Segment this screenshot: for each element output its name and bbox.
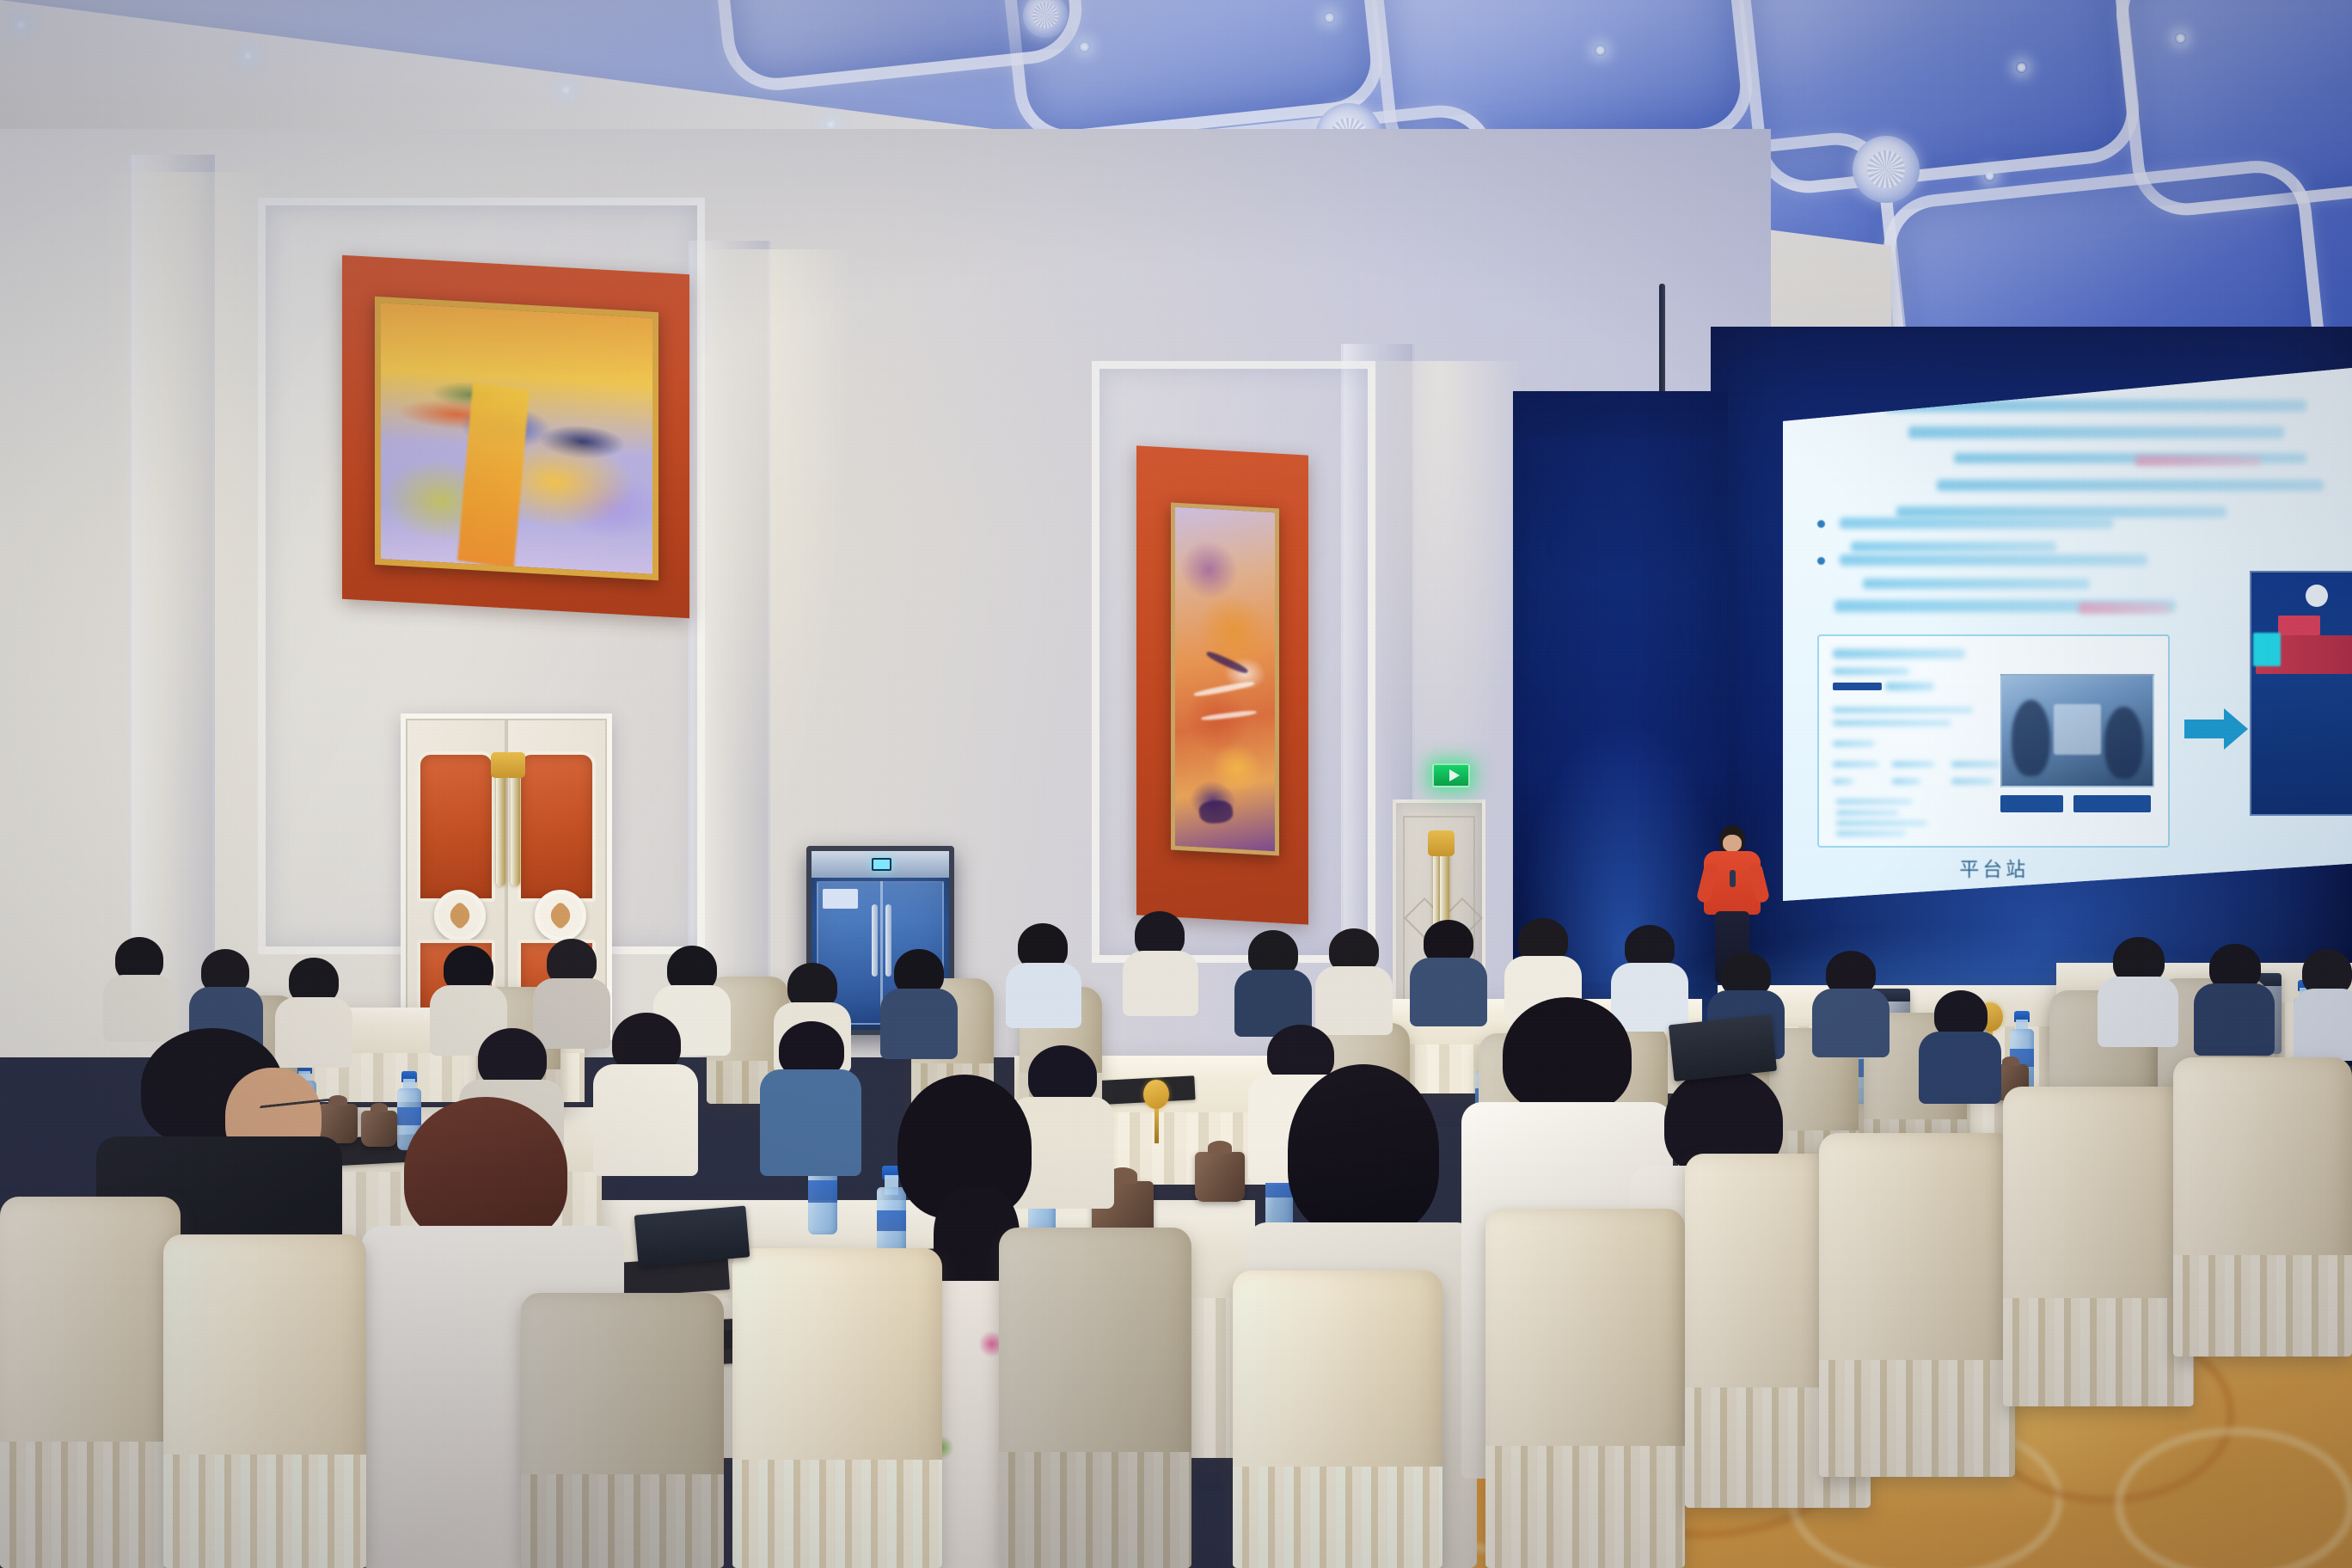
card-title [1833, 649, 1965, 658]
chair-pleat [1819, 1360, 2015, 1477]
attendee [2194, 944, 2276, 1056]
chair-pleat [1233, 1467, 1442, 1568]
chair-pleat [732, 1460, 942, 1568]
laptop[interactable] [634, 1205, 750, 1266]
attendee-torso [760, 1069, 861, 1176]
ceiling-downlight [1079, 41, 1090, 52]
card-body-line [1833, 720, 1951, 726]
door-handle[interactable] [496, 773, 505, 886]
card-list-item [1836, 821, 1927, 825]
attendee-torso [1812, 989, 1890, 1057]
door-panel [518, 751, 595, 902]
slide-caption: 平台站 [1959, 853, 2029, 882]
cornice-downlight [560, 84, 572, 95]
door-panel [417, 751, 494, 902]
card-meta [1885, 683, 1934, 690]
card-col-head [1892, 762, 1934, 767]
projection-screen: 平台站 [1783, 368, 2352, 901]
slide-headline-block [1908, 426, 2284, 438]
wall-pilaster [129, 155, 215, 1032]
slide-phone-mockup [2250, 571, 2352, 816]
banquet-chair[interactable] [0, 1197, 181, 1568]
attendee-torso [2098, 977, 2178, 1047]
slide-headline-block [2135, 456, 2261, 466]
door-medallion [434, 890, 486, 941]
phone-cyan-badge [2253, 633, 2281, 666]
fridge-handle[interactable] [872, 904, 878, 976]
banquet-chair[interactable] [521, 1293, 724, 1568]
banquet-chair[interactable] [163, 1234, 366, 1568]
ceiling-downlight [2175, 33, 2186, 44]
laptop[interactable] [1669, 1014, 1777, 1081]
card-body-line [1833, 741, 1875, 746]
chair-pleat [2003, 1298, 2194, 1406]
fridge-display [872, 858, 891, 871]
card-list-item [1836, 831, 1906, 836]
banquet-chair[interactable] [2173, 1057, 2352, 1357]
banquet-chair[interactable] [1819, 1133, 2015, 1477]
chair-pleat [163, 1455, 366, 1568]
attendee-torso [2294, 989, 2352, 1061]
table-number-stand [1143, 1080, 1169, 1142]
presentation-slide: 平台站 [1783, 368, 2352, 901]
cornice-downlight [242, 50, 254, 61]
card-action-button[interactable] [2000, 795, 2063, 812]
slide-headline-block [1896, 506, 2226, 518]
chair-pleat [1485, 1446, 1685, 1568]
attendee [1234, 930, 1314, 1037]
attendee-hair [1503, 997, 1632, 1112]
handheld-microphone [1730, 870, 1736, 887]
attendee [1004, 923, 1081, 1026]
chair-pleat [0, 1442, 181, 1568]
card-meta [1833, 668, 1909, 675]
card-body-line [1833, 707, 1973, 713]
chair-pleat [521, 1474, 724, 1568]
attendee-hair [404, 1097, 567, 1245]
card-action-button[interactable] [2073, 795, 2150, 812]
ceiling-downlight [1595, 45, 1606, 56]
banquet-chair[interactable] [732, 1248, 942, 1568]
painting-landscape [375, 297, 658, 580]
attendee-torso [1006, 963, 1081, 1028]
clay-tea-pot[interactable] [1195, 1152, 1245, 1202]
ceiling-downlight [2016, 62, 2027, 73]
ceiling-downlight [1984, 170, 1995, 181]
banquet-chair[interactable] [1485, 1209, 1685, 1568]
carpet-swirl [2115, 1427, 2352, 1568]
slide-bullet-marker [1817, 520, 1825, 528]
card-badge [1833, 683, 1882, 690]
card-col-value [1833, 779, 1853, 784]
stand-stem [1155, 1107, 1159, 1143]
card-list-item [1836, 811, 1899, 815]
card-list-item [1836, 799, 1913, 804]
slide-flow-arrow [2184, 720, 2226, 738]
attendee-torso [1919, 1032, 2001, 1104]
photo-monitor-shape [2054, 704, 2102, 755]
attendee [1919, 990, 2003, 1104]
card-col-value [1892, 779, 1920, 784]
conference-hall-photo: 平台站 [0, 0, 2352, 1568]
phone-tag [2278, 616, 2320, 634]
attendee [103, 937, 179, 1042]
phone-wifi-icon [2306, 585, 2328, 607]
attendee [1315, 928, 1394, 1035]
attendee [1123, 911, 1200, 1014]
slide-bullet-line-1 [1840, 518, 2113, 529]
slide-subheading-highlight [2079, 603, 2170, 614]
attendee [2294, 949, 2352, 1061]
door-medallion [535, 890, 586, 941]
slide-headline-block [1937, 480, 2324, 491]
attendee-hair [1288, 1064, 1439, 1236]
ceiling-rosette [1853, 136, 1920, 203]
bottle-label [808, 1180, 837, 1203]
attendee-torso [2194, 983, 2275, 1056]
attendee-torso [1123, 951, 1198, 1016]
banquet-chair[interactable] [1233, 1271, 1442, 1568]
photo-person-shape [2012, 700, 2050, 776]
chair-pleat [2173, 1255, 2352, 1357]
slide-detail-card [1817, 634, 2170, 848]
painting-landscape-canvas [381, 303, 652, 574]
fridge-label [823, 889, 859, 909]
banquet-chair[interactable] [999, 1228, 1191, 1568]
painting-portrait-canvas [1175, 507, 1275, 851]
attendee [1812, 951, 1891, 1057]
slide-bullet-line-2 [1863, 579, 2091, 589]
banquet-chair[interactable] [2003, 1087, 2194, 1406]
attendee [2098, 937, 2180, 1047]
photo-person-shape [2104, 707, 2143, 779]
attendee-torso [880, 989, 958, 1059]
card-col-head [1833, 762, 1878, 767]
presenter-face [1723, 835, 1742, 852]
card-col-value [1951, 779, 1994, 784]
attendee [760, 1021, 863, 1176]
card-col-head [1951, 762, 2000, 767]
door-handle[interactable] [1440, 851, 1449, 928]
slide-photo-thumbnail [2000, 674, 2154, 787]
slide-bullet-line-2 [1840, 554, 2147, 566]
slide-bullet-line-1 [1851, 542, 2055, 552]
slide-bullet-marker [1817, 557, 1825, 565]
painting-portrait [1171, 502, 1279, 855]
attendee [880, 949, 959, 1059]
cornice-downlight [15, 19, 27, 30]
ceiling-downlight [1324, 12, 1335, 23]
chair-pleat [999, 1452, 1191, 1568]
stand-disc [1143, 1080, 1169, 1109]
exit-sign [1432, 763, 1470, 787]
door-handle[interactable] [511, 773, 520, 886]
